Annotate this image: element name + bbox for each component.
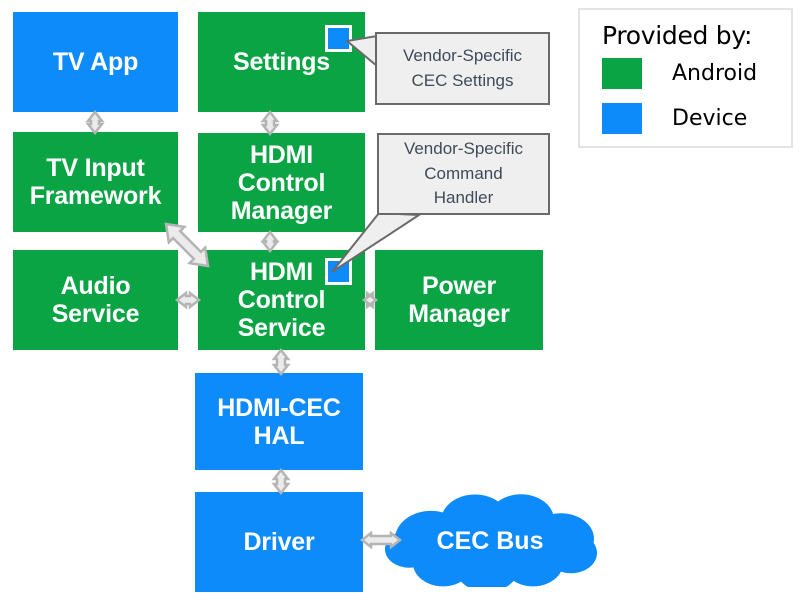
diagram-canvas: TV App Settings TV Input Framework HDMI … [0,0,800,603]
callout-vendor-command-handler[interactable]: Vendor-Specific Command Handler [377,133,550,215]
callout-vendor-cec-settings[interactable]: Vendor-Specific CEC Settings [375,32,550,105]
callout-vendor-command-handler-label: Vendor-Specific Command Handler [404,137,523,211]
callout-vendor-cec-settings-label: Vendor-Specific CEC Settings [403,44,522,93]
